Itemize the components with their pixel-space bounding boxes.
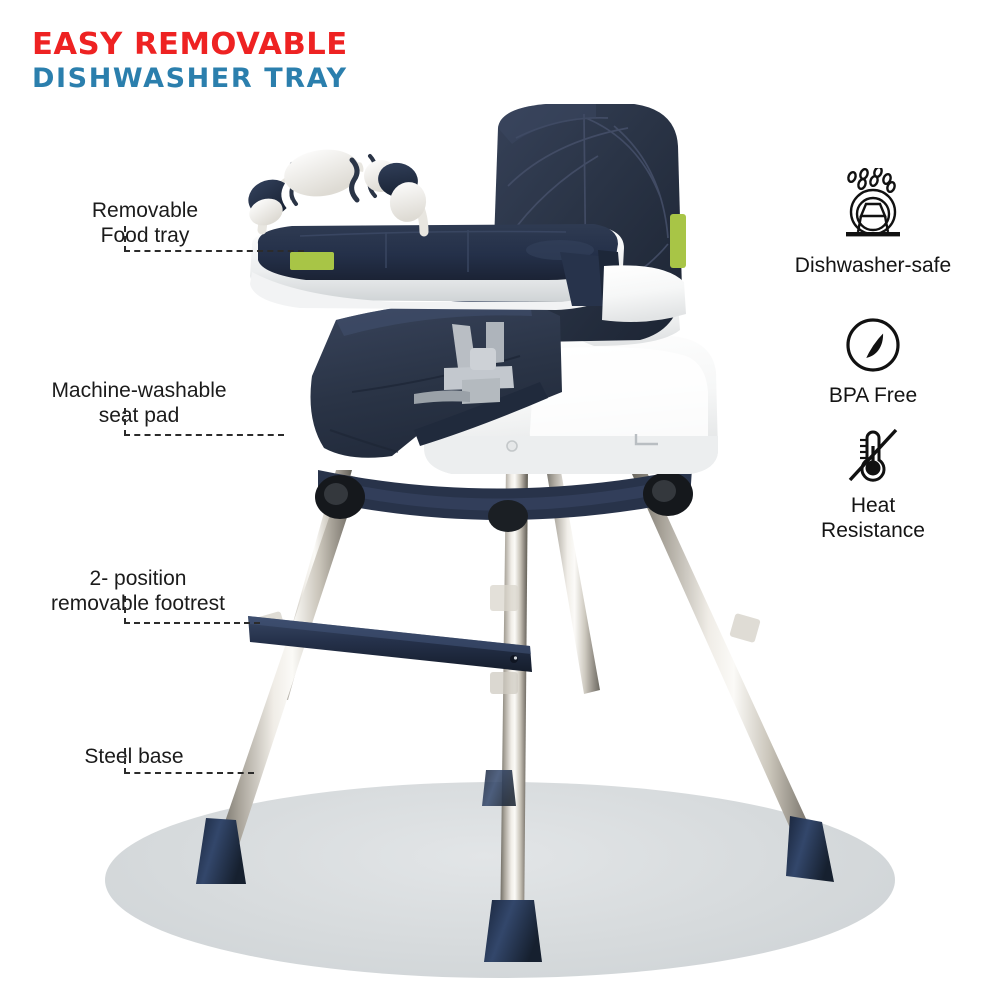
feature-dishwasher-safe: Dishwasher-safe xyxy=(768,168,978,278)
feature-heat-resistance: Heat Resistance xyxy=(768,408,978,543)
feature-label: BPA Free xyxy=(768,383,978,408)
feature-bpa-free: BPA Free xyxy=(768,298,978,408)
callout-label: Steel base xyxy=(84,745,183,768)
no-thermometer-icon xyxy=(768,408,978,486)
tray-green-sticker xyxy=(290,252,334,270)
dishwasher-icon xyxy=(768,168,978,246)
callout-machine-washable-seat-pad: Machine-washable seat pad xyxy=(12,352,266,429)
feature-label: Dishwasher-safe xyxy=(768,253,978,278)
green-brand-tag xyxy=(670,214,686,268)
callout-label: Removable Food tray xyxy=(92,199,198,248)
leaf-circle-icon xyxy=(768,298,978,376)
steel-legs xyxy=(216,466,824,940)
callout-label: Machine-washable seat pad xyxy=(51,379,226,428)
toy-bar xyxy=(244,145,430,232)
callout-two-position-removable-footrest: 2- position removable footrest xyxy=(10,540,266,617)
removable-food-tray xyxy=(250,224,686,322)
feature-label: Heat Resistance xyxy=(768,493,978,543)
callout-steel-base: Steel base xyxy=(42,718,226,769)
callout-label: 2- position removable footrest xyxy=(51,567,225,616)
callout-removable-food-tray: Removable Food tray xyxy=(40,172,250,249)
